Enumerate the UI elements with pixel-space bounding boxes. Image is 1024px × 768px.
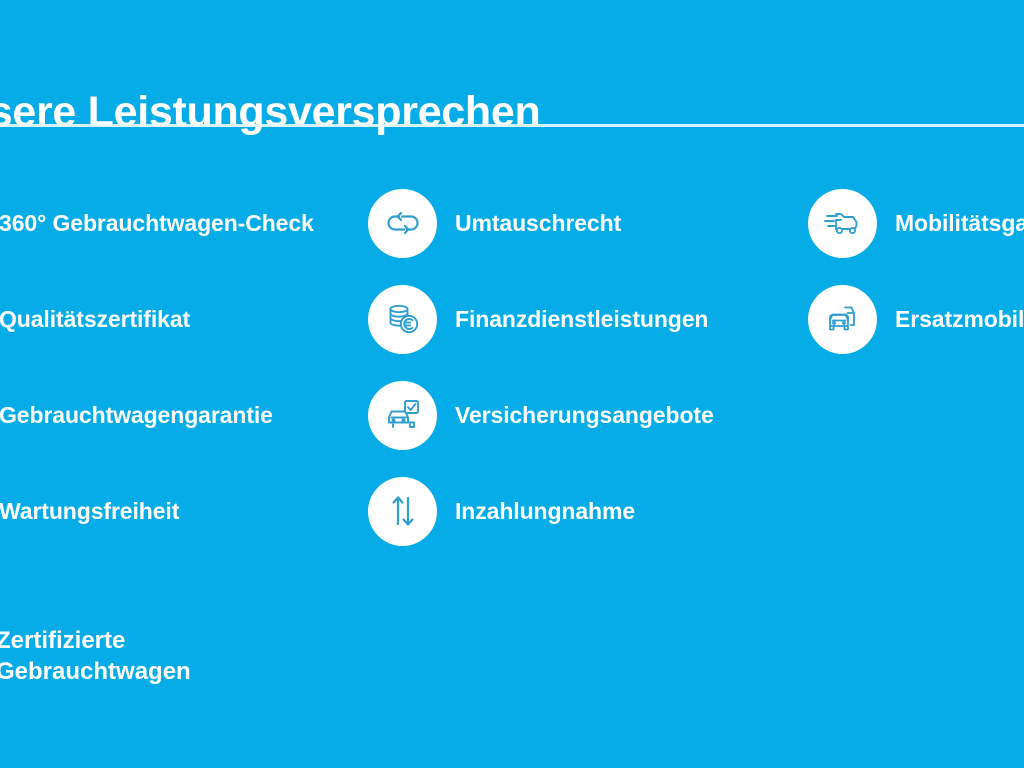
feature-label: Umtauschrecht: [455, 210, 621, 237]
feature-label: Finanzdienstleistungen: [455, 306, 708, 333]
feature-column-middle: Umtauschrecht Finanzdienstleistungen: [368, 188, 768, 572]
feature-item[interactable]: Ersatzmobilität: [808, 284, 1024, 354]
coins-euro-icon: [368, 285, 437, 354]
feature-label: Ersatzmobilität: [895, 306, 1024, 333]
feature-label: Mobilitätsgarantie: [895, 210, 1024, 237]
feature-item[interactable]: 360° Gebrauchtwagen-Check: [0, 188, 342, 258]
feature-label: Inzahlungnahme: [455, 498, 635, 525]
certified-used-cars-label: Zertifizierte Gebrauchtwagen: [0, 625, 191, 687]
feature-item[interactable]: Umtauschrecht: [368, 188, 768, 258]
car-document-check-icon: [368, 381, 437, 450]
feature-item[interactable]: Versicherungsangebote: [368, 380, 768, 450]
feature-item[interactable]: Mobilitätsgarantie: [808, 188, 1024, 258]
up-down-arrows-icon: [368, 477, 437, 546]
header-divider: [0, 124, 1024, 127]
exchange-arrows-icon: [368, 189, 437, 258]
feature-label: Versicherungsangebote: [455, 402, 714, 429]
feature-item[interactable]: Inzahlungnahme: [368, 476, 768, 546]
page-title: Unsere Leistungsversprechen: [0, 85, 1024, 139]
certified-line-1: Zertifizierte: [0, 627, 125, 654]
feature-label: 360° Gebrauchtwagen-Check: [0, 210, 314, 237]
feature-item[interactable]: Finanzdienstleistungen: [368, 284, 768, 354]
feature-item[interactable]: Qualitätszertifikat: [0, 284, 342, 354]
feature-item[interactable]: Gebrauchtwagengarantie: [0, 380, 342, 450]
moving-van-icon: [808, 189, 877, 258]
feature-label: Wartungsfreiheit: [0, 498, 179, 525]
feature-label: Gebrauchtwagengarantie: [0, 402, 273, 429]
promise-panel: Unsere Leistungsversprechen 360° Gebrauc…: [0, 0, 1024, 768]
feature-column-left: 360° Gebrauchtwagen-Check Qualitätszerti…: [0, 188, 342, 572]
feature-item[interactable]: Wartungsfreiheit: [0, 476, 342, 546]
certified-line-2: Gebrauchtwagen: [0, 656, 191, 687]
feature-column-right: Mobilitätsgarantie Ersatzmobilität: [808, 188, 1024, 380]
feature-label: Qualitätszertifikat: [0, 306, 190, 333]
two-cars-icon: [808, 285, 877, 354]
